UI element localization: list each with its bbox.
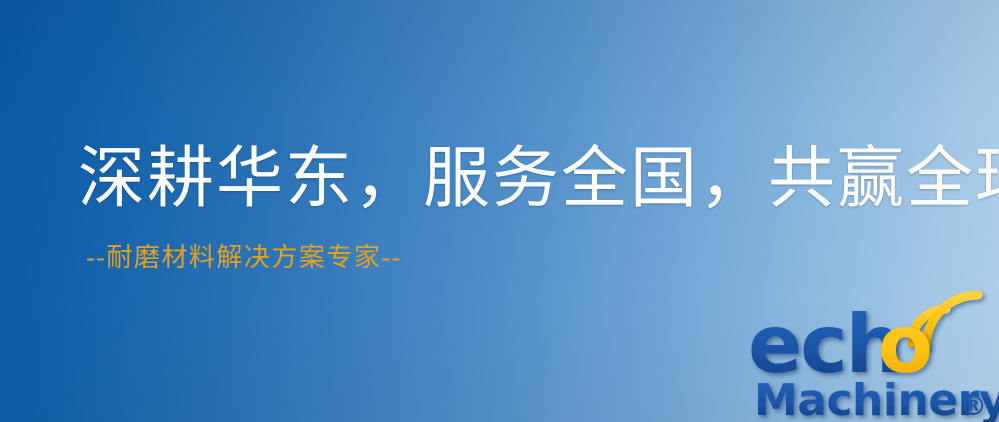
hero-banner: 深耕华东，服务全国，共赢全球 --耐磨材料解决方案专家-- xyxy=(0,0,999,422)
echo-machinery-logo[interactable]: ech o Machinery ® xyxy=(744,296,999,422)
logo-registered-mark: ® xyxy=(960,391,987,422)
banner-text-block: 深耕华东，服务全国，共赢全球 --耐磨材料解决方案专家-- xyxy=(78,144,958,273)
banner-headline: 深耕华东，服务全国，共赢全球 xyxy=(78,144,958,215)
banner-subheadline: --耐磨材料解决方案专家-- xyxy=(78,215,958,273)
